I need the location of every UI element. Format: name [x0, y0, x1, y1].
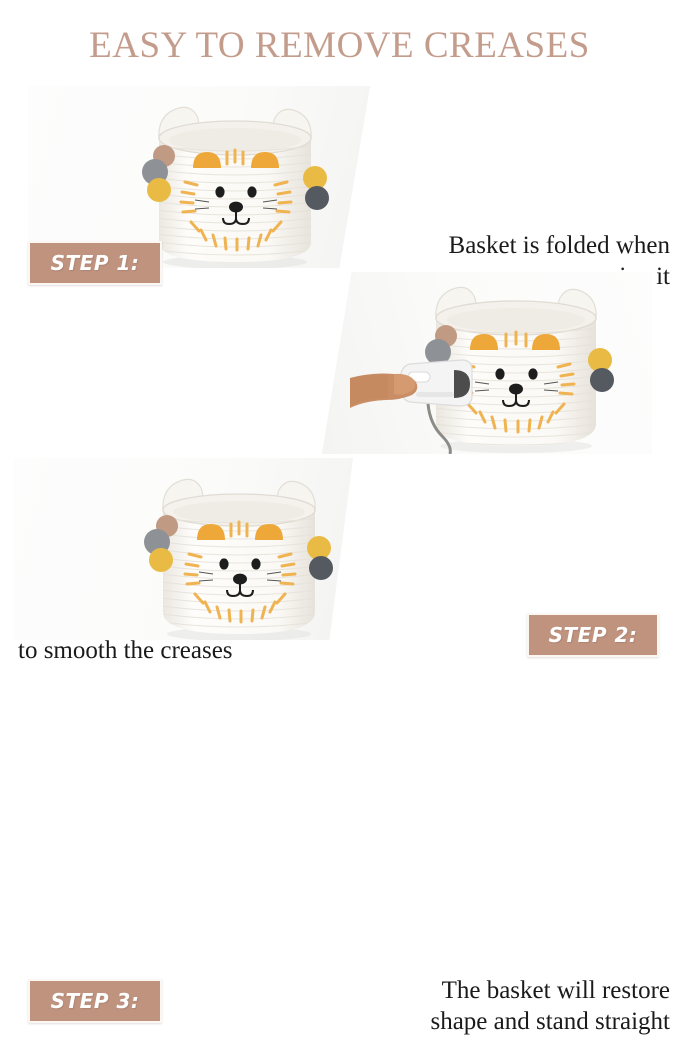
step-3-badge: STEP 3:: [28, 979, 162, 1023]
step-3-caption-line1: The basket will restore: [442, 977, 670, 1004]
lion-basket-image-step-3: [123, 464, 353, 640]
step-1-caption-line1: Basket is folded when: [449, 232, 670, 259]
hand: [350, 374, 417, 409]
step-3-caption-line2: shape and stand straight: [372, 1007, 670, 1037]
infographic-page: EASY TO REMOVE CREASES: [0, 0, 679, 679]
step-2-caption-line2: to smooth the creases: [18, 636, 318, 667]
page-title: EASY TO REMOVE CREASES: [0, 24, 679, 67]
step-3-badge-label: STEP 3:: [51, 989, 140, 1013]
step-2-photo-panel: [322, 272, 652, 454]
step-3-caption: The basket will restore shape and stand …: [372, 976, 670, 1037]
step-row-1: STEP 1: Basket is folded when you recive…: [0, 86, 679, 268]
hand-ironing-basket-image-step-2: [350, 274, 650, 454]
step-3-photo-panel: [13, 458, 353, 640]
step-row-2: STEP 2: Ironing out the basket to smooth…: [0, 272, 679, 454]
step-row-3: STEP 3: The basket will restore shape an…: [0, 458, 679, 640]
